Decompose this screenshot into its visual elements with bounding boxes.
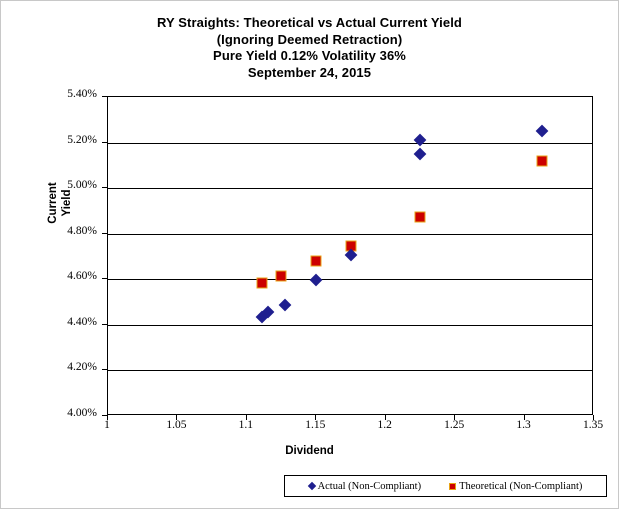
- x-axis-tick-label: 1.1: [226, 419, 266, 431]
- y-axis-tick-label: 5.20%: [43, 134, 97, 146]
- x-axis-tick-mark: [524, 415, 525, 420]
- x-axis-tick-mark: [107, 415, 108, 420]
- x-axis-tick-mark: [315, 415, 316, 420]
- x-axis-tick-label: 1.3: [504, 419, 544, 431]
- horizontal-gridline: [108, 325, 592, 326]
- x-axis-tick-mark: [246, 415, 247, 420]
- y-axis-tick-label: 5.40%: [43, 88, 97, 100]
- chart-title: RY Straights: Theoretical vs Actual Curr…: [1, 15, 618, 81]
- x-axis-tick-label: 1.15: [295, 419, 335, 431]
- y-axis-tick-label: 4.60%: [43, 270, 97, 282]
- legend-item[interactable]: Actual (Non-Compliant): [309, 481, 422, 492]
- data-point-actual: [413, 148, 426, 161]
- legend-item[interactable]: Theoretical (Non-Compliant): [449, 481, 582, 492]
- data-point-theoretical: [257, 277, 268, 288]
- data-point-actual: [310, 274, 323, 287]
- x-axis-title: Dividend: [1, 445, 618, 457]
- data-point-actual: [536, 125, 549, 138]
- data-point-theoretical: [536, 155, 547, 166]
- horizontal-gridline: [108, 234, 592, 235]
- plot-area: [107, 96, 593, 415]
- chart-frame: RY Straights: Theoretical vs Actual Curr…: [0, 0, 619, 509]
- y-axis-tick-label: 4.00%: [43, 407, 97, 419]
- y-axis-tick-label: 4.80%: [43, 225, 97, 237]
- x-axis-tick-label: 1.05: [156, 419, 196, 431]
- horizontal-gridline: [108, 143, 592, 144]
- x-axis-tick-label: 1: [87, 419, 127, 431]
- chart-title-line-2: (Ignoring Deemed Retraction): [1, 32, 618, 49]
- data-point-theoretical: [414, 211, 425, 222]
- data-point-actual: [413, 134, 426, 147]
- data-point-theoretical: [275, 270, 286, 281]
- x-axis-tick-label: 1.35: [573, 419, 613, 431]
- legend-item-label: Actual (Non-Compliant): [318, 481, 422, 492]
- chart-title-line-1: RY Straights: Theoretical vs Actual Curr…: [1, 15, 618, 32]
- y-axis-tick-label: 5.00%: [43, 179, 97, 191]
- x-axis-tick-label: 1.2: [365, 419, 405, 431]
- x-axis-tick-mark: [454, 415, 455, 420]
- x-axis-tick-mark: [176, 415, 177, 420]
- chart-title-line-3: Pure Yield 0.12% Volatility 36%: [1, 48, 618, 65]
- legend-square-icon: [449, 483, 456, 490]
- data-point-actual: [279, 299, 292, 312]
- horizontal-gridline: [108, 188, 592, 189]
- x-axis-tick-label: 1.25: [434, 419, 474, 431]
- y-axis-tick-label: 4.20%: [43, 361, 97, 373]
- chart-title-line-4: September 24, 2015: [1, 65, 618, 82]
- horizontal-gridline: [108, 370, 592, 371]
- legend-diamond-icon: [307, 482, 315, 490]
- chart-legend: Actual (Non-Compliant)Theoretical (Non-C…: [284, 475, 607, 497]
- data-point-theoretical: [311, 256, 322, 267]
- x-axis-tick-mark: [593, 415, 594, 420]
- horizontal-gridline: [108, 279, 592, 280]
- legend-item-label: Theoretical (Non-Compliant): [459, 481, 582, 492]
- y-axis-tick-label: 4.40%: [43, 316, 97, 328]
- x-axis-tick-mark: [385, 415, 386, 420]
